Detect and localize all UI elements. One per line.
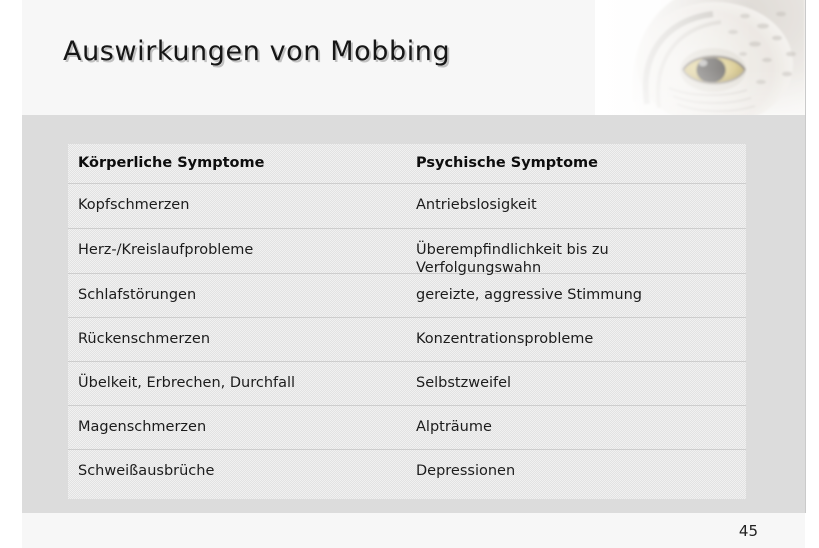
table-row: Magenschmerzen Alpträume xyxy=(68,406,746,450)
owl-eye-icon xyxy=(595,0,805,115)
symptoms-table: Körperliche Symptome Psychische Symptome… xyxy=(68,144,746,499)
table-row: Rückenschmerzen Konzentrationsprobleme xyxy=(68,318,746,362)
table-row: Übelkeit, Erbrechen, Durchfall Selbstzwe… xyxy=(68,362,746,406)
table-row: Schweißausbrüche Depressionen xyxy=(68,450,746,499)
cell-psychological-symptom: Alpträume xyxy=(416,418,736,436)
cell-physical-symptom: Herz-/Kreislaufprobleme xyxy=(78,241,408,259)
cell-physical-symptom: Kopfschmerzen xyxy=(78,196,408,214)
table-header-row: Körperliche Symptome Psychische Symptome xyxy=(68,144,746,184)
page-number: 45 xyxy=(739,522,758,540)
page-edge-rule xyxy=(805,0,806,513)
table-row: Herz-/Kreislaufprobleme Überempfindlichk… xyxy=(68,229,746,274)
slide-root: Auswirkungen von Mobbing xyxy=(0,0,819,548)
table-row: Schlafstörungen gereizte, aggressive Sti… xyxy=(68,274,746,318)
page-title: Auswirkungen von Mobbing xyxy=(63,36,450,67)
owl-eye-photo xyxy=(595,0,805,115)
slide-body-band: Körperliche Symptome Psychische Symptome… xyxy=(22,115,805,513)
cell-psychological-symptom: Antriebslosigkeit xyxy=(416,196,736,214)
cell-psychological-symptom: Selbstzweifel xyxy=(416,374,736,392)
cell-psychological-symptom: gereizte, aggressive Stimmung xyxy=(416,286,736,304)
cell-physical-symptom: Rückenschmerzen xyxy=(78,330,408,348)
cell-physical-symptom: Übelkeit, Erbrechen, Durchfall xyxy=(78,374,408,392)
cell-physical-symptom: Schlafstörungen xyxy=(78,286,408,304)
column-header-koerperliche-symptome: Körperliche Symptome xyxy=(78,154,408,172)
column-header-psychische-symptome: Psychische Symptome xyxy=(416,154,736,172)
cell-psychological-symptom: Konzentrationsprobleme xyxy=(416,330,736,348)
cell-physical-symptom: Magenschmerzen xyxy=(78,418,408,436)
cell-psychological-symptom: Depressionen xyxy=(416,462,736,480)
slide-footer-band: 45 xyxy=(22,513,805,548)
cell-physical-symptom: Schweißausbrüche xyxy=(78,462,408,480)
slide-header-band: Auswirkungen von Mobbing xyxy=(22,0,805,115)
table-row: Kopfschmerzen Antriebslosigkeit xyxy=(68,184,746,229)
cell-psychological-symptom: Überempfindlichkeit bis zu Verfolgungswa… xyxy=(416,241,736,277)
